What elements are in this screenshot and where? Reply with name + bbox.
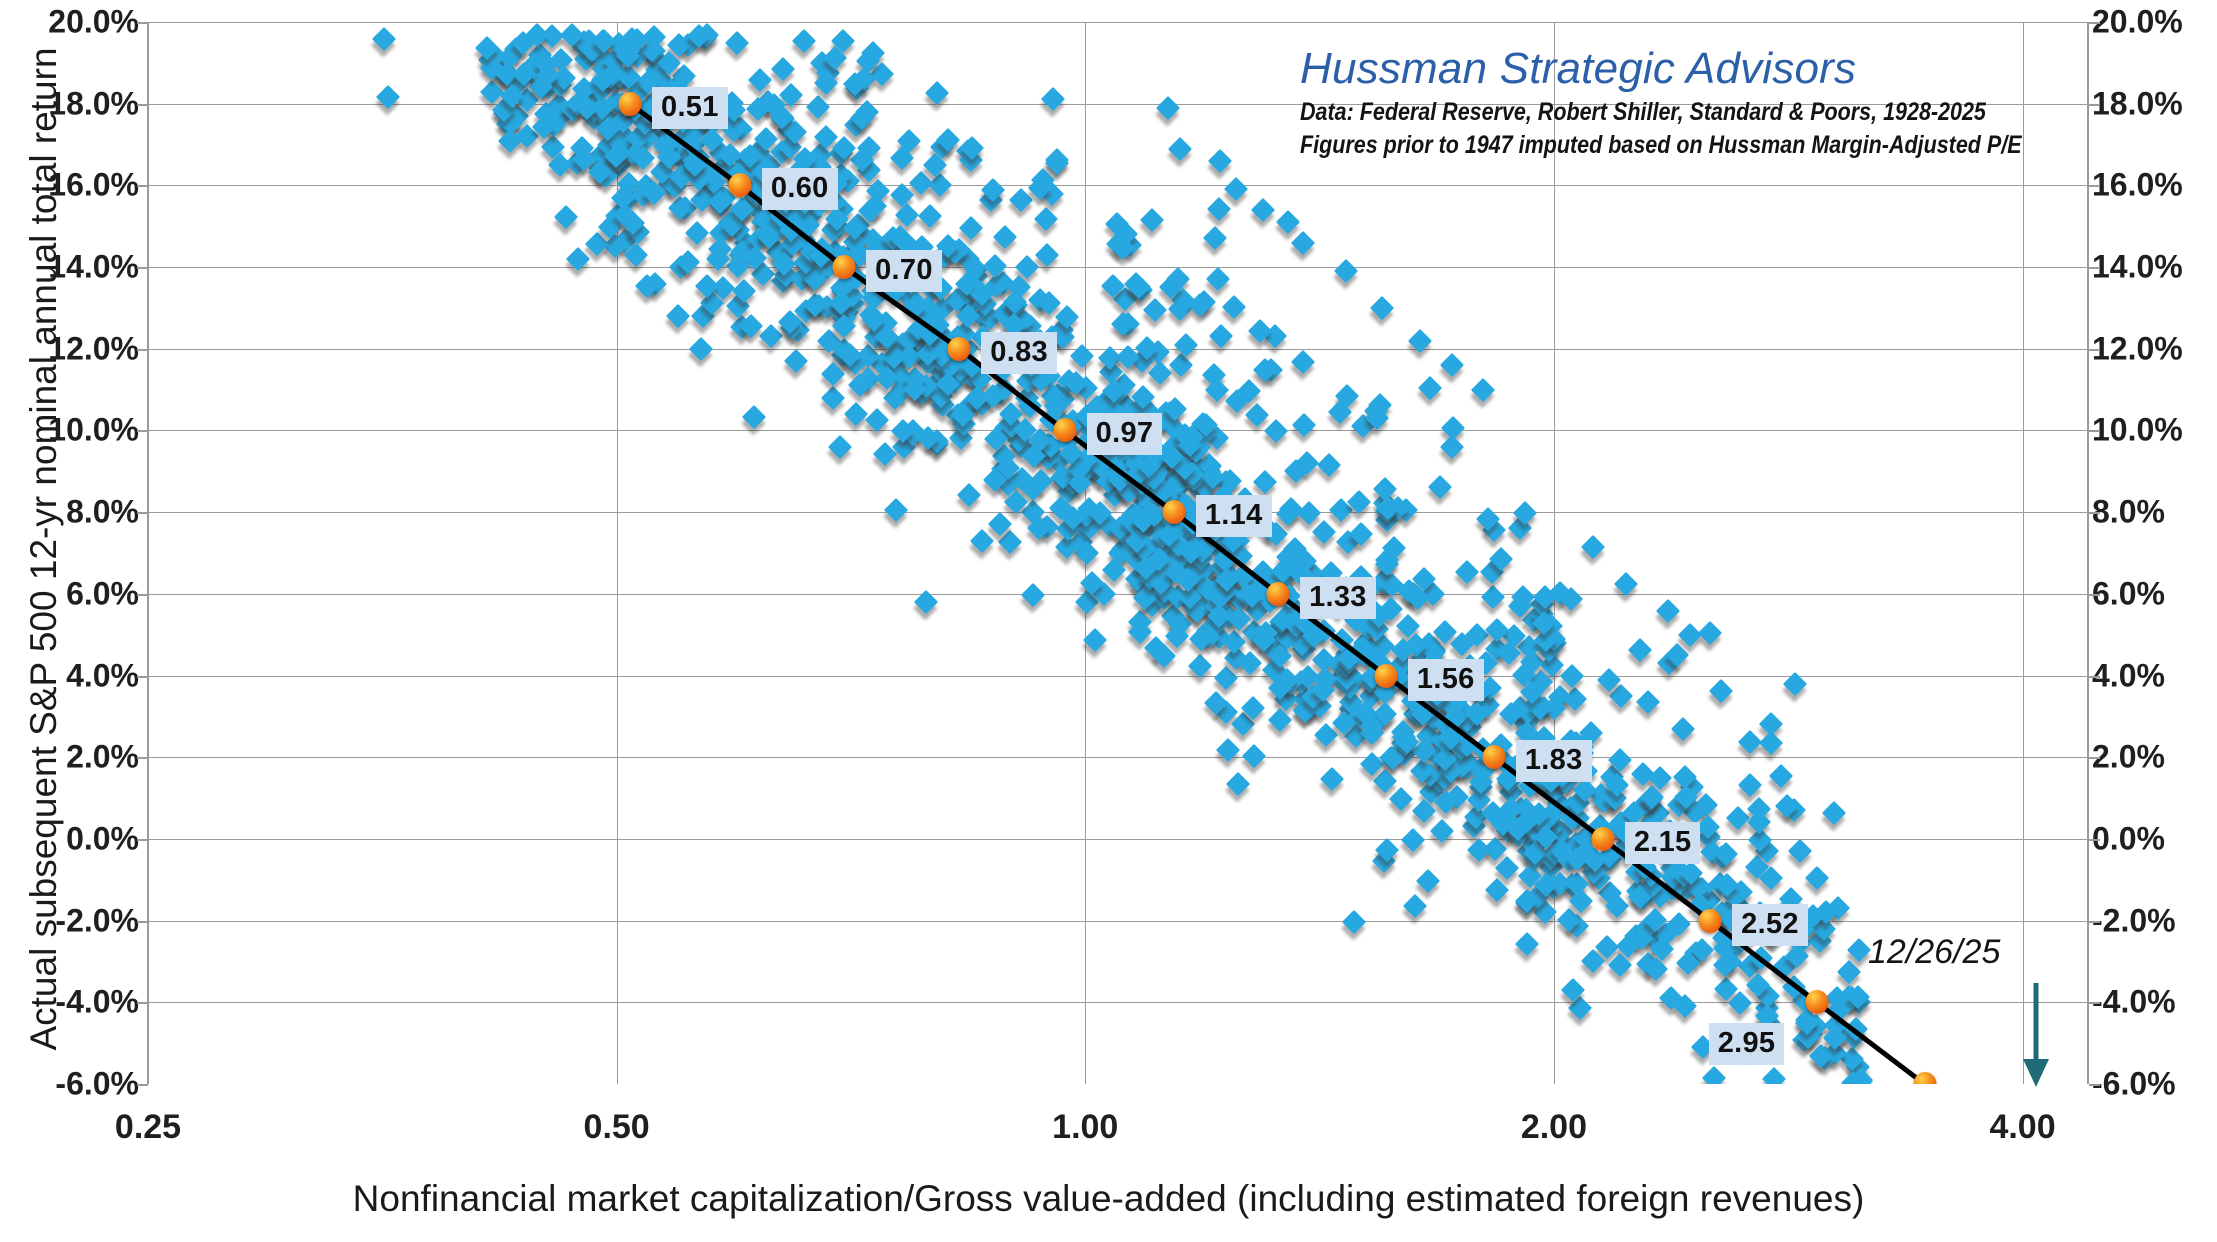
axis-tickmark: [2089, 349, 2100, 351]
scatter-point: [1614, 572, 1638, 596]
scatter-point: [993, 225, 1017, 249]
y-axis-tick-label-right: 10.0%: [2092, 412, 2217, 449]
axis-tickmark: [2089, 921, 2100, 923]
scatter-point: [1203, 226, 1227, 250]
trendline-data-label: 1.56: [1408, 659, 1484, 701]
trendline-data-label: 1.83: [1516, 740, 1592, 782]
scatter-point: [1276, 210, 1300, 234]
scatter-point: [1581, 535, 1605, 559]
scatter-point: [1143, 298, 1167, 322]
scatter-point: [1805, 866, 1829, 890]
scatter-point: [1698, 621, 1722, 645]
scatter-point: [844, 402, 868, 426]
scatter-point: [1655, 599, 1679, 623]
gridline: [148, 757, 2087, 758]
scatter-point: [1373, 769, 1397, 793]
x-axis-tick-label: 4.00: [1989, 1108, 2055, 1147]
trendline-marker: [1591, 827, 1614, 851]
axis-tickmark: [137, 22, 148, 24]
scatter-point: [685, 221, 709, 245]
scatter-point: [1188, 654, 1212, 678]
scatter-point: [1222, 295, 1246, 319]
y-axis-tick-label-right: -6.0%: [2092, 1066, 2217, 1103]
scatter-point: [1208, 149, 1232, 173]
scatter-point: [1070, 344, 1094, 368]
y-axis-tick-label: -2.0%: [22, 902, 139, 939]
scatter-point: [1224, 177, 1248, 201]
y-axis-tick-label-right: 14.0%: [2092, 249, 2217, 286]
scatter-point: [1268, 708, 1292, 732]
scatter-point: [1455, 560, 1479, 584]
plot-area: 0.510.600.700.830.971.141.331.561.832.15…: [148, 22, 2087, 1084]
scatter-point: [1759, 731, 1783, 755]
scatter-point: [1738, 773, 1762, 797]
y-axis-tick-label: -4.0%: [22, 984, 139, 1021]
scatter-point: [895, 203, 919, 227]
scatter-point: [1008, 188, 1032, 212]
x-axis-tick-label: 2.00: [1521, 1108, 1587, 1147]
trendline-marker: [1162, 500, 1185, 524]
scatter-point: [1515, 932, 1539, 956]
scatter-point: [925, 81, 949, 105]
trendline-data-label: 1.14: [1196, 495, 1272, 537]
axis-tickmark: [137, 104, 148, 106]
scatter-point: [1471, 378, 1495, 402]
scatter-point: [1314, 723, 1338, 747]
scatter-point: [784, 349, 808, 373]
gridline: [148, 512, 2087, 513]
scatter-point: [1636, 690, 1660, 714]
axis-tickmark: [137, 676, 148, 678]
axis-tickmark: [137, 757, 148, 759]
scatter-point: [1342, 910, 1366, 934]
y-axis-tick-label-right: 0.0%: [2092, 820, 2217, 857]
trendline-marker: [948, 337, 971, 361]
trendline-marker: [1699, 909, 1722, 933]
y-axis-tick-label: -6.0%: [22, 1066, 139, 1103]
axis-tickmark: [2089, 22, 2100, 24]
scatter-point: [1169, 353, 1193, 377]
brand-note-line: Figures prior to 1947 imputed based on H…: [1300, 131, 1971, 160]
scatter-point: [1467, 838, 1491, 862]
y-axis-tick-label-right: 16.0%: [2092, 167, 2217, 204]
scatter-point: [1209, 324, 1233, 348]
trendline-data-label: 0.83: [981, 332, 1057, 374]
scatter-point: [372, 27, 396, 51]
scatter-point: [725, 31, 749, 55]
scatter-point: [1671, 717, 1695, 741]
axis-tickmark: [137, 839, 148, 841]
y-axis-tick-label: 2.0%: [22, 739, 139, 776]
scatter-point: [1837, 960, 1861, 984]
gridline: [148, 349, 2087, 350]
scatter-point: [1291, 231, 1315, 255]
y-axis-tick-label: 0.0%: [22, 820, 139, 857]
y-axis-right-spine: [2087, 22, 2089, 1084]
scatter-point: [1292, 413, 1316, 437]
brand-source-line: Data: Federal Reserve, Robert Shiller, S…: [1300, 98, 1971, 127]
down-arrow-icon: [2018, 983, 2054, 1091]
trendline-marker: [1267, 582, 1290, 606]
scatter-point: [1253, 470, 1277, 494]
trendline-data-label: 0.51: [652, 87, 728, 129]
scatter-point: [959, 216, 983, 240]
trendline-data-label: 2.95: [1709, 1023, 1785, 1065]
scatter-point: [884, 497, 908, 521]
scatter-point: [1822, 801, 1846, 825]
scatter-point: [1416, 869, 1440, 893]
scatter-point: [1418, 376, 1442, 400]
axis-tickmark: [137, 1084, 148, 1086]
y-axis-tick-label-right: 12.0%: [2092, 330, 2217, 367]
trendline-marker: [833, 255, 856, 279]
axis-tickmark: [2089, 1084, 2100, 1086]
axis-tickmark: [2089, 757, 2100, 759]
axis-tickmark: [137, 921, 148, 923]
y-axis-tick-label-right: -2.0%: [2092, 902, 2217, 939]
scatter-point: [1440, 435, 1464, 459]
scatter-point: [1788, 838, 1812, 862]
scatter-point: [1701, 1066, 1725, 1084]
scatter-point: [748, 68, 772, 92]
scatter-point: [865, 408, 889, 432]
scatter-point: [1021, 583, 1045, 607]
axis-tickmark: [2089, 1002, 2100, 1004]
scatter-point: [1041, 87, 1065, 111]
scatter-point: [1206, 267, 1230, 291]
scatter-point: [1481, 584, 1505, 608]
gridline: [148, 22, 2087, 23]
y-axis-tick-label: 10.0%: [22, 412, 139, 449]
scatter-point: [957, 483, 981, 507]
y-axis-tick-label: 16.0%: [22, 167, 139, 204]
scatter-point: [821, 386, 845, 410]
axis-tickmark: [2089, 594, 2100, 596]
scatter-point: [1440, 353, 1464, 377]
trendline-marker: [728, 173, 751, 197]
y-axis-tick-label-right: 2.0%: [2092, 739, 2217, 776]
scatter-point: [1297, 501, 1321, 525]
trendline-data-label: 0.70: [866, 250, 942, 292]
scatter-point: [1226, 772, 1250, 796]
scatter-point: [928, 173, 952, 197]
scatter-point: [1412, 799, 1436, 823]
gridline: [148, 267, 2087, 268]
scatter-point: [1628, 638, 1652, 662]
axis-tickmark: [137, 512, 148, 514]
scatter-point: [1769, 764, 1793, 788]
scatter-point: [1403, 894, 1427, 918]
axis-tickmark: [137, 349, 148, 351]
scatter-point: [1174, 333, 1198, 357]
axis-tickmark: [2089, 104, 2100, 106]
scatter-point: [1709, 679, 1733, 703]
y-axis-tick-label-right: 6.0%: [2092, 575, 2217, 612]
scatter-point: [970, 529, 994, 553]
scatter-point: [376, 85, 400, 109]
trendline-data-label: 1.33: [1300, 577, 1376, 619]
scatter-point: [1678, 623, 1702, 647]
axis-tickmark: [2089, 185, 2100, 187]
y-axis-tick-label-right: 20.0%: [2092, 4, 2217, 41]
axis-tickmark: [2089, 430, 2100, 432]
x-axis-tick-label: 0.50: [584, 1108, 650, 1147]
x-axis-tick-label: 1.00: [1052, 1108, 1118, 1147]
scatter-point: [792, 29, 816, 53]
scatter-point: [689, 337, 713, 361]
scatter-point: [890, 183, 914, 207]
axis-tickmark: [137, 185, 148, 187]
trendline-data-label: 2.52: [1732, 904, 1808, 946]
brand-title: Hussman Strategic Advisors: [1300, 44, 2080, 94]
scatter-point: [1370, 296, 1394, 320]
scatter-point: [1428, 474, 1452, 498]
trendline-marker: [1482, 745, 1505, 769]
trendline-marker: [1374, 664, 1397, 688]
scatter-point: [1035, 243, 1059, 267]
scatter-point: [1560, 664, 1584, 688]
scatter-point: [742, 405, 766, 429]
scatter-point: [666, 304, 690, 328]
scatter-point: [1264, 419, 1288, 443]
axis-tickmark: [2089, 267, 2100, 269]
scatter-point: [1034, 207, 1058, 231]
scatter-point: [1140, 207, 1164, 231]
y-axis-tick-label: 8.0%: [22, 494, 139, 531]
axis-tickmark: [137, 594, 148, 596]
x-axis-title: Nonfinancial market capitalization/Gross…: [0, 1178, 2217, 1220]
y-axis-tick-label: 14.0%: [22, 249, 139, 286]
gridline: [148, 185, 2087, 186]
current-date-annotation: 12/26/25: [1868, 933, 2000, 972]
trendline-marker: [1913, 1072, 1936, 1084]
scatter-point: [1317, 453, 1341, 477]
scatter-point: [1485, 878, 1509, 902]
y-axis-tick-label-right: 18.0%: [2092, 85, 2217, 122]
scatter-point: [1762, 1067, 1786, 1084]
scatter-point: [1401, 828, 1425, 852]
gridline-vertical: [617, 22, 618, 1084]
scatter-point: [1389, 787, 1413, 811]
trendline-marker: [1805, 990, 1828, 1014]
y-axis-tick-label: 4.0%: [22, 657, 139, 694]
chart-canvas: Actual subsequent S&P 500 12-yr nominal …: [0, 0, 2217, 1242]
scatter-point: [1291, 350, 1315, 374]
scatter-point: [1214, 666, 1238, 690]
branding-block: Hussman Strategic Advisors Data: Federal…: [1300, 44, 2080, 160]
y-axis-tick-label: 12.0%: [22, 330, 139, 367]
scatter-point: [918, 204, 942, 228]
scatter-point: [1251, 198, 1275, 222]
axis-tickmark: [137, 430, 148, 432]
gridline-vertical: [1554, 22, 1555, 1084]
axis-tickmark: [137, 1002, 148, 1004]
scatter-point: [1207, 197, 1231, 221]
axis-tickmark: [2089, 512, 2100, 514]
y-axis-tick-label: 20.0%: [22, 4, 139, 41]
x-axis-tick-label: 0.25: [115, 1108, 181, 1147]
y-axis-tick-label: 18.0%: [22, 85, 139, 122]
scatter-point: [1045, 151, 1069, 175]
scatter-point: [1242, 744, 1266, 768]
axis-tickmark: [2089, 676, 2100, 678]
y-axis-tick-label: 6.0%: [22, 575, 139, 612]
scatter-point: [771, 57, 795, 81]
scatter-point: [1245, 403, 1269, 427]
scatter-point: [1083, 628, 1107, 652]
scatter-point: [1216, 738, 1240, 762]
trendline-data-label: 0.97: [1087, 413, 1163, 455]
gridline-vertical: [2023, 22, 2024, 1084]
y-axis-tick-label-right: 8.0%: [2092, 494, 2217, 531]
trendline-data-label: 0.60: [762, 168, 838, 210]
scatter-point: [554, 205, 578, 229]
axis-tickmark: [137, 267, 148, 269]
y-axis-tick-label-right: -4.0%: [2092, 984, 2217, 1021]
trendline-data-label: 2.15: [1625, 822, 1701, 864]
scatter-point: [806, 95, 830, 119]
trendline-marker: [1053, 418, 1076, 442]
gridline: [148, 594, 2087, 595]
scatter-point: [1495, 856, 1519, 880]
scatter-point: [1156, 96, 1180, 120]
y-axis-tick-label-right: 4.0%: [2092, 657, 2217, 694]
gridline: [148, 839, 2087, 840]
scatter-point: [828, 435, 852, 459]
scatter-point: [1334, 259, 1358, 283]
scatter-point: [1320, 767, 1344, 791]
scatter-point: [1312, 520, 1336, 544]
scatter-point: [1168, 137, 1192, 161]
trendline-marker: [619, 92, 642, 116]
axis-tickmark: [2089, 839, 2100, 841]
